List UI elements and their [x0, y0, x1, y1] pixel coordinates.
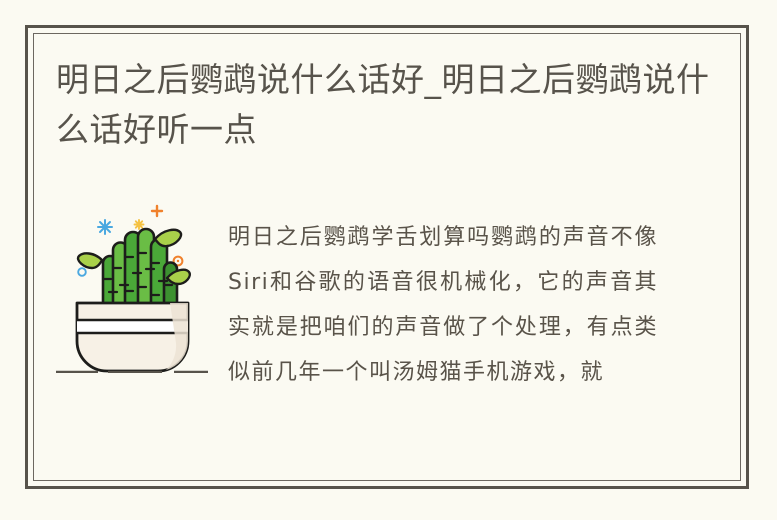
article-title: 明日之后鹦鹉说什么话好_明日之后鹦鹉说什么话好听一点 — [56, 55, 716, 155]
plus-sparkle-orange-icon — [152, 206, 162, 216]
snowflake-sparkle-blue-icon — [98, 220, 112, 234]
plant-pot — [77, 297, 188, 371]
ring-sparkle-blue-icon — [78, 268, 86, 276]
article-body-text: 明日之后鹦鹉学舌划算吗鹦鹉的声音不像Siri和谷歌的语音很机械化，它的声音其实就… — [228, 215, 658, 395]
article-card: 明日之后鹦鹉说什么话好_明日之后鹦鹉说什么话好听一点 — [0, 0, 777, 520]
burst-sparkle-yellow-icon — [135, 220, 144, 229]
potted-bamboo-cactus-illustration — [50, 193, 215, 373]
